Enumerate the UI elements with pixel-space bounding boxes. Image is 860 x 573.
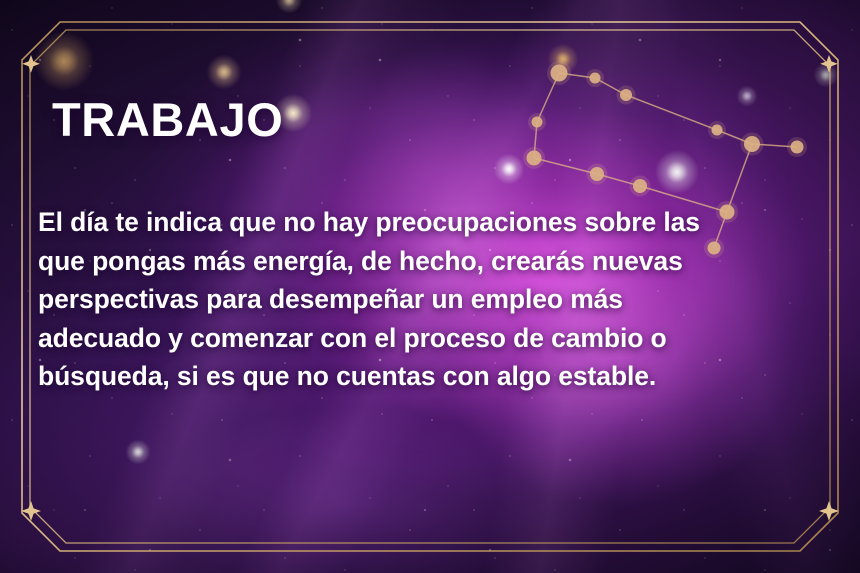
corner-sparkle-bottom-left <box>21 501 41 521</box>
body-line: adecuado y comenzar con el proceso de ca… <box>38 319 813 358</box>
page-title: TRABAJO <box>52 92 283 147</box>
horoscope-body-text: El día te indica que no hay preocupacion… <box>38 203 813 396</box>
body-line: perspectivas para desempeñar un empleo m… <box>38 280 813 319</box>
body-line: búsqueda, si es que no cuentas con algo … <box>38 357 813 396</box>
corner-sparkle-bottom-right <box>819 501 839 521</box>
body-line: que pongas más energía, de hecho, creará… <box>38 242 813 281</box>
horoscope-card: TRABAJO El día te indica que no hay preo… <box>0 0 860 573</box>
body-line: El día te indica que no hay preocupacion… <box>38 203 813 242</box>
